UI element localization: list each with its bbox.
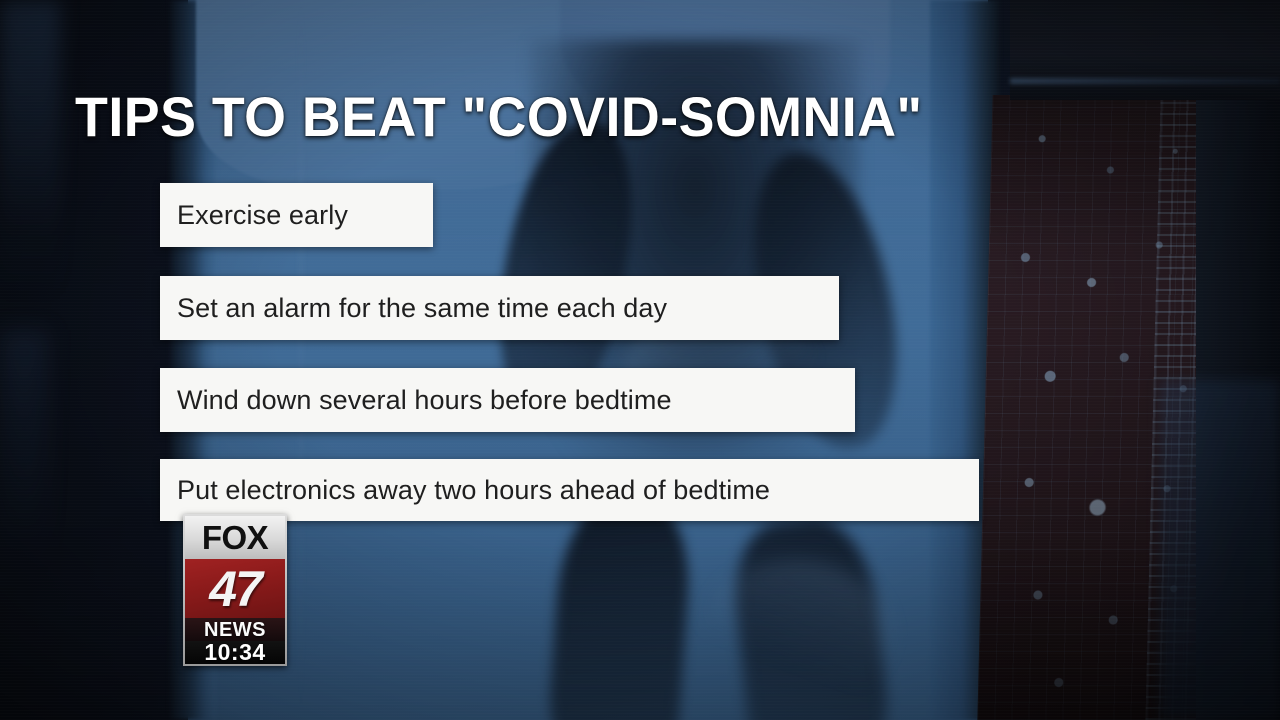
channel-number: 47: [185, 559, 285, 618]
department-label: NEWS: [185, 618, 285, 641]
tip-label: Wind down several hours before bedtime: [177, 387, 672, 414]
broadcast-screen: TIPS TO BEAT "COVID-SOMNIA" Exercise ear…: [0, 0, 1280, 720]
tip-item-alarm: Set an alarm for the same time each day: [160, 276, 839, 340]
tip-label: Set an alarm for the same time each day: [177, 295, 667, 322]
tip-item-exercise: Exercise early: [160, 183, 433, 247]
network-name: FOX: [185, 516, 285, 559]
on-screen-clock: 10:34: [185, 641, 285, 664]
tip-item-wind-down: Wind down several hours before bedtime: [160, 368, 855, 432]
station-logo-bug: FOX 47 NEWS 10:34: [183, 514, 287, 666]
tip-item-electronics: Put electronics away two hours ahead of …: [160, 459, 979, 521]
tip-label: Put electronics away two hours ahead of …: [177, 477, 770, 504]
station-logo-inner: FOX 47 NEWS 10:34: [185, 516, 285, 664]
tip-label: Exercise early: [177, 202, 348, 229]
page-title: TIPS TO BEAT "COVID-SOMNIA": [75, 88, 922, 146]
